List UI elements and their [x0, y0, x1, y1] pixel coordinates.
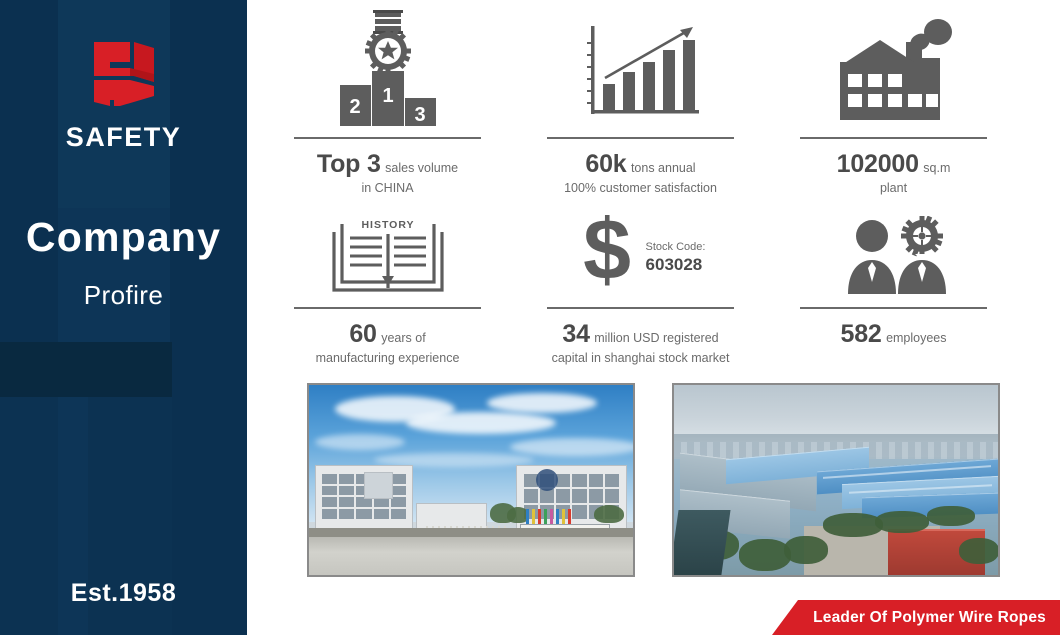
- stats-row-bottom: HISTORY: [294, 210, 1047, 366]
- stat-value: 34: [562, 320, 589, 348]
- stat-value: Top 3: [317, 150, 381, 178]
- stat-card-plant-area: 102000 sq.m plant: [800, 8, 987, 196]
- brand-logo: SAFETY: [0, 36, 247, 153]
- stat-card-registered-capital: $ Stock Code: 603028 34: [547, 210, 734, 366]
- stat-text: 582 employees: [840, 318, 946, 350]
- stats-grid: 1 2 3 Top 3 sales volume in CHINA: [294, 8, 1047, 366]
- stat-value: 582: [840, 320, 881, 348]
- stat-unit: years of: [381, 331, 425, 345]
- stat-value: 60k: [585, 150, 626, 178]
- safety-s-logo-icon: [90, 36, 158, 108]
- company-profile-slide: SAFETY Company Profire Est.1958: [0, 0, 1060, 635]
- history-book-icon: HISTORY: [326, 210, 450, 296]
- stat-divider: [800, 307, 987, 309]
- bar-chart-growth-icon: [581, 8, 701, 126]
- stat-card-annual-tons: 60k tons annual 100% customer satisfacti…: [547, 8, 734, 196]
- stat-divider: [800, 137, 987, 139]
- stat-value: 60: [349, 320, 376, 348]
- stock-code-value: 603028: [646, 254, 706, 277]
- employees-gear-icon: [832, 210, 956, 296]
- page-subtitle: Profire: [0, 280, 247, 311]
- stat-card-employees: 582 employees: [800, 210, 987, 366]
- stat-caption: 100% customer satisfaction: [564, 180, 717, 196]
- stat-unit: employees: [886, 331, 946, 345]
- stat-text: 60 years of manufacturing experience: [316, 318, 460, 366]
- stat-divider: [547, 307, 734, 309]
- tagline-banner: Leader Of Polymer Wire Ropes: [772, 600, 1060, 635]
- stat-value: 102000: [837, 150, 919, 178]
- aerial-factory-photo: [672, 383, 1000, 577]
- stat-caption: capital in shanghai stock market: [552, 350, 730, 366]
- stat-text: 34 million USD registered capital in sha…: [552, 318, 730, 366]
- photo-gallery: [307, 383, 1000, 577]
- stock-code-block: Stock Code: 603028: [646, 228, 706, 278]
- svg-text:$: $: [583, 209, 631, 291]
- company-office-buildings-photo: [307, 383, 635, 577]
- brand-wordmark: SAFETY: [0, 122, 247, 153]
- factory-icon: [828, 8, 960, 126]
- svg-text:1: 1: [382, 85, 393, 107]
- stat-text: Top 3 sales volume in CHINA: [317, 148, 458, 196]
- stat-unit: sales volume: [385, 161, 458, 175]
- stat-caption: in CHINA: [317, 180, 458, 196]
- stat-unit: million USD registered: [594, 331, 718, 345]
- stat-caption: manufacturing experience: [316, 350, 460, 366]
- page-title: Company: [0, 214, 247, 261]
- podium-medal-icon: 1 2 3: [332, 8, 444, 126]
- stat-divider: [547, 137, 734, 139]
- established-text: Est.1958: [0, 579, 247, 608]
- panel-decor-shape: [0, 342, 172, 397]
- content-area: 1 2 3 Top 3 sales volume in CHINA: [247, 0, 1060, 635]
- stat-caption: plant: [837, 180, 951, 196]
- stat-divider: [294, 137, 481, 139]
- stat-text: 60k tons annual 100% customer satisfacti…: [564, 148, 717, 196]
- tagline-text: Leader Of Polymer Wire Ropes: [813, 609, 1046, 627]
- svg-text:2: 2: [349, 96, 360, 118]
- stat-divider: [294, 307, 481, 309]
- svg-text:3: 3: [414, 104, 425, 126]
- stat-unit: sq.m: [923, 161, 950, 175]
- left-brand-panel: SAFETY Company Profire Est.1958: [0, 0, 247, 635]
- dollar-sign-icon: $: [576, 209, 638, 296]
- stock-code-label: Stock Code:: [646, 240, 706, 255]
- stat-unit: tons annual: [631, 161, 696, 175]
- stats-row-top: 1 2 3 Top 3 sales volume in CHINA: [294, 8, 1047, 196]
- svg-text:HISTORY: HISTORY: [361, 219, 414, 231]
- stat-card-top3: 1 2 3 Top 3 sales volume in CHINA: [294, 8, 481, 196]
- stat-card-years: HISTORY: [294, 210, 481, 366]
- dollar-stock-group: $ Stock Code: 603028: [576, 210, 706, 296]
- stat-text: 102000 sq.m plant: [837, 148, 951, 196]
